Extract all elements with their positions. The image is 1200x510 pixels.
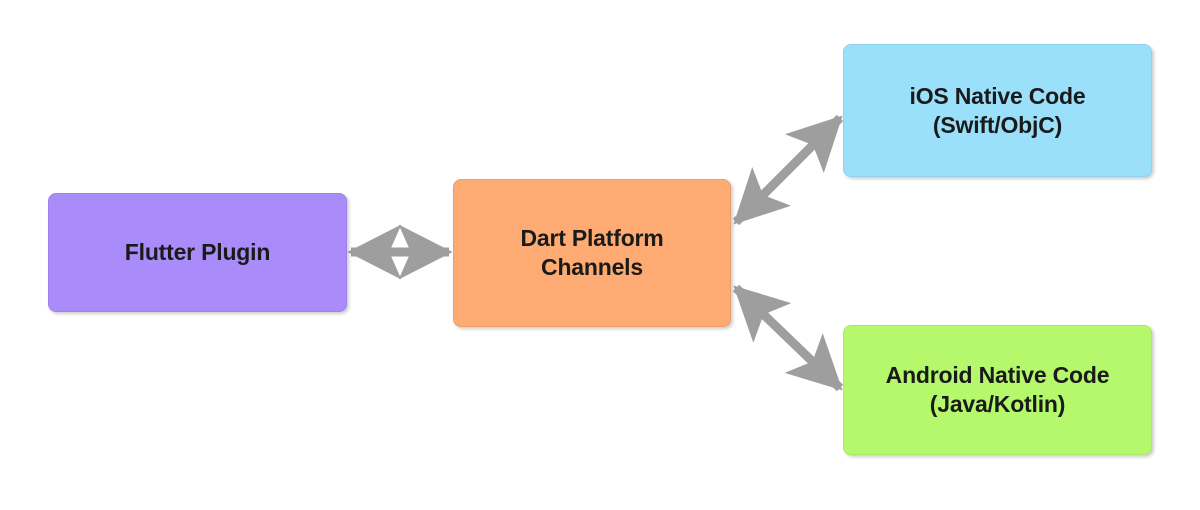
edge-channels-to-android [736,288,840,388]
node-android-native-code[interactable]: Android Native Code (Java/Kotlin) [843,325,1152,455]
diagram-canvas: Flutter Plugin Dart Platform Channels iO… [0,0,1200,510]
node-flutter-plugin-label: Flutter Plugin [113,238,282,267]
node-android-native-code-label: Android Native Code (Java/Kotlin) [874,361,1122,419]
node-dart-platform-channels-label: Dart Platform Channels [508,224,675,282]
node-ios-native-code[interactable]: iOS Native Code (Swift/ObjC) [843,44,1152,177]
node-ios-native-code-label: iOS Native Code (Swift/ObjC) [898,82,1098,140]
node-flutter-plugin[interactable]: Flutter Plugin [48,193,347,312]
node-dart-platform-channels[interactable]: Dart Platform Channels [453,179,731,327]
edge-channels-to-ios [736,118,840,222]
